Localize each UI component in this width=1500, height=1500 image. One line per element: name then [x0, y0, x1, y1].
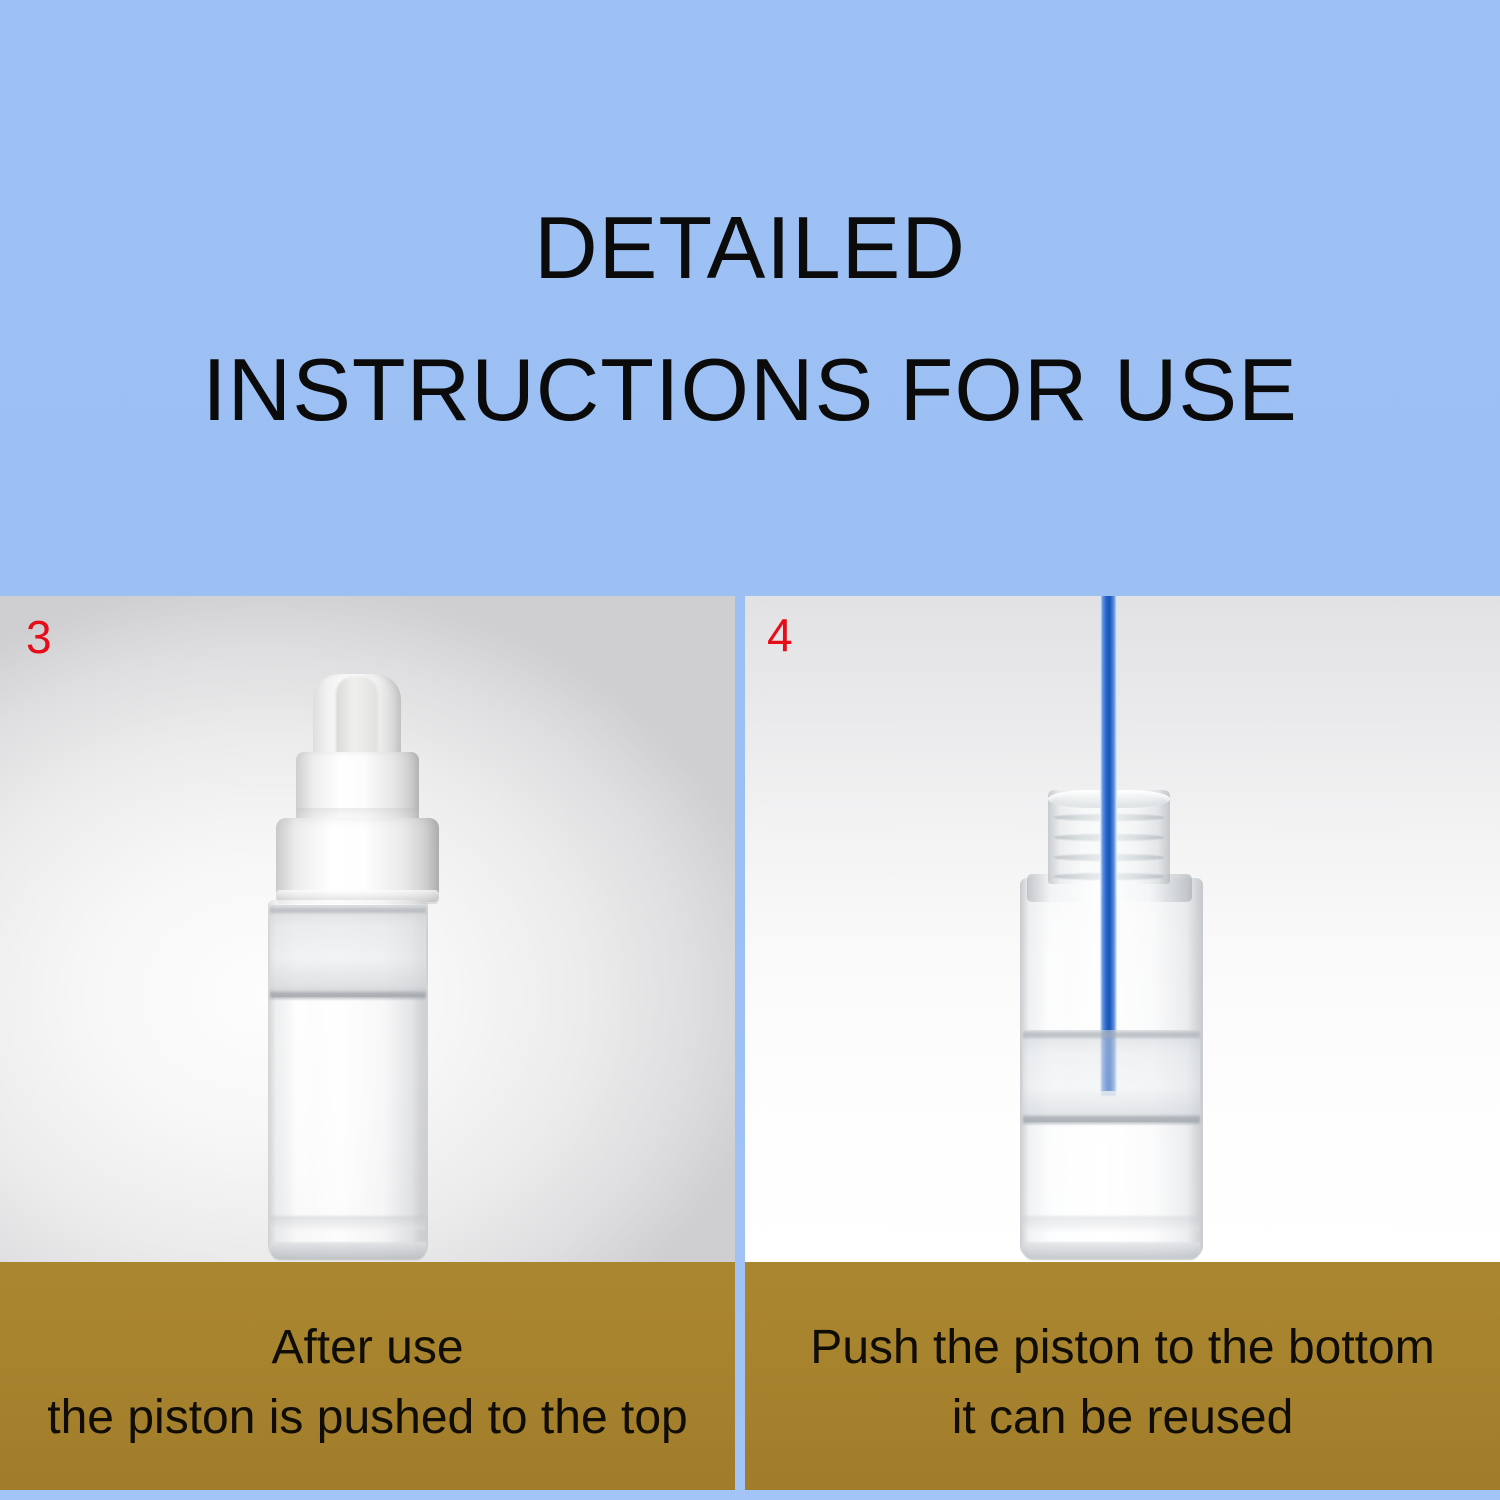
step-3-caption-line-1: After use — [271, 1313, 463, 1383]
blue-push-rod-icon — [1100, 596, 1117, 1091]
step-number-badge-3: 3 — [26, 614, 52, 660]
step-number-badge-4: 4 — [767, 612, 793, 658]
piston-bottom-edge — [270, 992, 426, 999]
steps-panel-row: 3 After use — [0, 596, 1500, 1492]
pump-nozzle-tip-icon — [336, 676, 378, 754]
bottle-base — [1023, 1242, 1200, 1260]
step-4-photo: 4 — [745, 596, 1500, 1262]
airless-pump-bottle-open — [745, 596, 1500, 1262]
piston-top-edge — [1023, 1032, 1200, 1038]
piston-disc-at-top — [270, 905, 426, 997]
piston-disc-pushed-down — [1023, 1030, 1200, 1122]
step-4-caption-line-1: Push the piston to the bottom — [810, 1313, 1434, 1383]
step-3-caption-bar: After use the piston is pushed to the to… — [0, 1262, 735, 1490]
header-title-line-1: DETAILED — [534, 178, 966, 318]
piston-bottom-edge — [1023, 1116, 1200, 1124]
bottle-base — [270, 1242, 426, 1260]
airless-pump-bottle-closed — [0, 596, 735, 1262]
instructions-infographic: DETAILED INSTRUCTIONS FOR USE 3 — [0, 0, 1500, 1500]
step-3-photo: 3 — [0, 596, 735, 1262]
step-panel-3: 3 After use — [0, 596, 735, 1492]
step-panel-4: 4 — [745, 596, 1500, 1492]
step-4-caption-line-2: it can be reused — [952, 1383, 1294, 1453]
bottle-bottom-ring — [270, 1216, 426, 1230]
header-title-line-2: INSTRUCTIONS FOR USE — [202, 320, 1298, 460]
bottle-bottom-ring — [1023, 1216, 1200, 1231]
step-4-caption-bar: Push the piston to the bottom it can be … — [745, 1262, 1500, 1490]
piston-top-edge — [270, 908, 426, 913]
header-banner: DETAILED INSTRUCTIONS FOR USE — [0, 0, 1500, 596]
step-3-caption-line-2: the piston is pushed to the top — [47, 1383, 687, 1453]
